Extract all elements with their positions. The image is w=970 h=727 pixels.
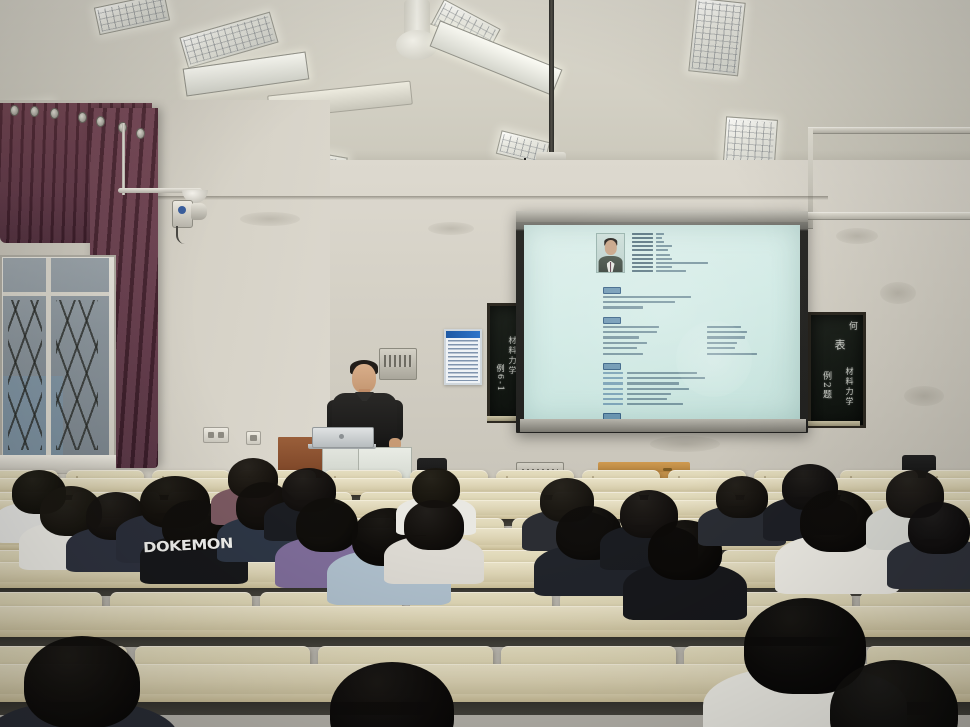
notice-poster [444,329,482,385]
cv-date-tag [603,377,623,379]
cv-bullet-text [603,336,639,338]
student-head [908,502,970,554]
student-head [24,636,140,727]
window-security-bar [8,300,42,450]
lecture-hall-photo: 选择 材料力学 例6-1 何 表 材料力学 例2题 [0,0,970,727]
projection-screen [524,225,800,419]
cv-bullet-text [603,353,643,355]
laptop-logo-icon [339,434,344,439]
camera-pole [122,123,125,195]
wall-stain [428,222,474,235]
student [716,476,768,518]
curtain-grommet [10,105,19,116]
chalk-tray [808,421,860,426]
cv-field-value [656,266,672,268]
cv-date-tag [603,372,623,374]
cv-field-label [632,237,653,239]
wall-shadow-line [128,196,828,200]
cv-field-label [632,270,653,272]
wall-control-panel[interactable] [379,348,417,380]
cv-bullet-text [603,306,643,308]
chalk-text: 何 [846,321,859,332]
cv-field-label [632,245,653,247]
cv-field-label [632,254,653,256]
cv-field-value [656,237,662,239]
student [908,502,970,554]
cv-field-label [632,241,653,243]
cv-field-value [656,241,664,243]
student-head [330,662,454,727]
cv-bullet-text [603,296,691,298]
cv-date-tag [603,403,623,405]
student-head [404,500,464,550]
chalk-text: 例6-1 [495,364,506,393]
student [800,490,874,552]
cv-field-value [656,245,672,247]
wall-conduit [788,212,970,220]
section-research [603,317,621,324]
student-head [830,660,958,727]
light-diffuser [692,1,743,73]
student-head [800,490,874,552]
blackboard-right: 何 表 材料力学 例2题 [808,312,866,428]
wall-mounted-camera [172,200,193,228]
cv-field-value [656,254,670,256]
chalk-text: 表 [831,339,847,352]
curtain-grommet [50,108,59,119]
cv-entry-text [627,393,671,395]
power-outlet[interactable] [246,431,261,445]
ceiling-light-9 [688,0,745,76]
cv-field-label [632,258,653,260]
student [330,662,454,727]
curtain-grommet [136,128,145,139]
student [296,498,358,552]
cv-field-label [632,249,653,251]
cv-field-value [656,233,664,235]
wall-stain [650,436,720,452]
power-outlet[interactable] [203,427,229,443]
cv-field-value [656,270,686,272]
wall-stain [904,386,944,406]
curtain-grommet [96,116,105,127]
student-head [296,498,358,552]
section-keywords [603,287,621,294]
cv-field-value [656,249,668,251]
wall-stain [240,212,300,226]
cv-date-tag [603,382,623,384]
cv-entry-text [627,403,683,405]
wall-stain [880,282,916,304]
cv-date-tag [603,398,623,400]
cv-entry-text [627,388,689,390]
cv-date-tag [603,393,623,395]
wall-conduit [810,127,970,134]
cv-bullet-text [603,331,657,333]
wall-stain [836,228,878,244]
cv-bullet-text [603,326,659,328]
cv-field-value [656,262,708,264]
curtain-grommet [78,112,87,123]
student [830,660,958,727]
cv-field-value [656,258,672,260]
cv-entry-text [627,382,679,384]
student [24,636,140,727]
window-mullion [3,292,109,296]
cv-field-label [632,262,653,264]
camera-cable [176,226,192,244]
cv-date-tag [603,388,623,390]
cv-entry-text [627,398,667,400]
screen-bottom-bar [520,419,806,432]
cv-portrait-photo [596,233,625,273]
screen-roller [516,211,808,222]
slide-watermark [676,321,752,397]
camera-lens-icon [191,203,207,220]
chalk-text: 材料力学 [844,367,855,407]
section-education [603,363,621,370]
cv-bullet-text [603,342,647,344]
chalk-text: 例2题 [820,371,833,401]
cv-bullet-text [603,347,637,349]
student [404,500,464,550]
projector-pole [549,0,554,160]
cv-field-label [632,233,653,235]
curtain-grommet [30,106,39,117]
window-security-bar [56,300,98,450]
cv-field-label [632,266,653,268]
window-mullion [46,258,51,463]
cv-bullet-text [603,301,675,303]
student-head [716,476,768,518]
